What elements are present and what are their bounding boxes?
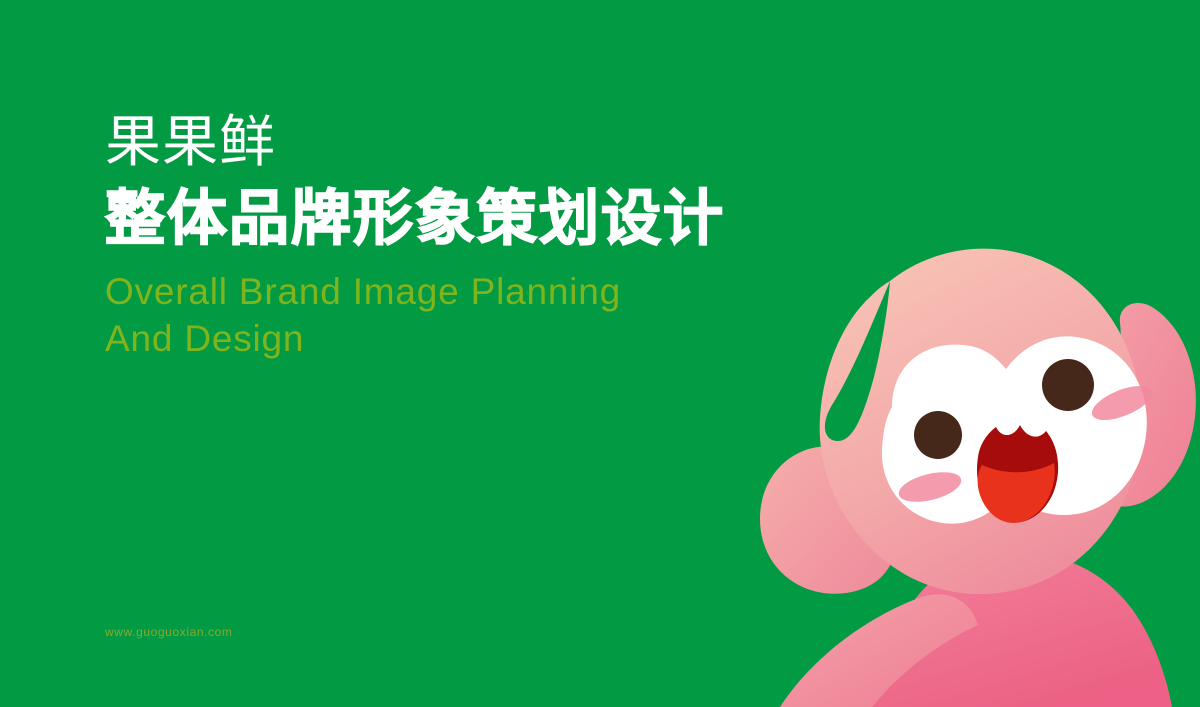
page-title: 整体品牌形象策划设计 xyxy=(105,182,725,255)
mascot-body xyxy=(870,553,1172,707)
mascot-mouth xyxy=(977,425,1058,523)
mascot-face xyxy=(882,336,1147,523)
mascot-right-arm xyxy=(1089,303,1196,507)
cover-slide: 果果鲜 整体品牌形象策划设计 Overall Brand Image Plann… xyxy=(0,0,1200,707)
mascot-left-blush xyxy=(896,467,964,508)
mascot-eyes xyxy=(914,359,1094,459)
mascot-right-eye xyxy=(1042,359,1094,411)
subtitle-line-2: And Design xyxy=(105,315,725,362)
mascot-blush xyxy=(896,379,1157,507)
mascot-right-blush xyxy=(1087,379,1156,427)
mascot-left-ear xyxy=(760,446,896,593)
mascot-front-arm xyxy=(780,594,978,707)
mascot-left-eye xyxy=(914,411,962,459)
title-block: 果果鲜 整体品牌形象策划设计 Overall Brand Image Plann… xyxy=(105,112,725,362)
subtitle-line-1: Overall Brand Image Planning xyxy=(105,268,725,315)
monkey-mascot-illustration xyxy=(720,237,1200,707)
brand-name: 果果鲜 xyxy=(105,112,725,172)
mascot-tongue xyxy=(978,463,1055,523)
subtitle: Overall Brand Image Planning And Design xyxy=(105,268,725,363)
mascot-head xyxy=(820,249,1142,594)
footer-website-url[interactable]: www.guoguoxian.com xyxy=(105,625,233,639)
